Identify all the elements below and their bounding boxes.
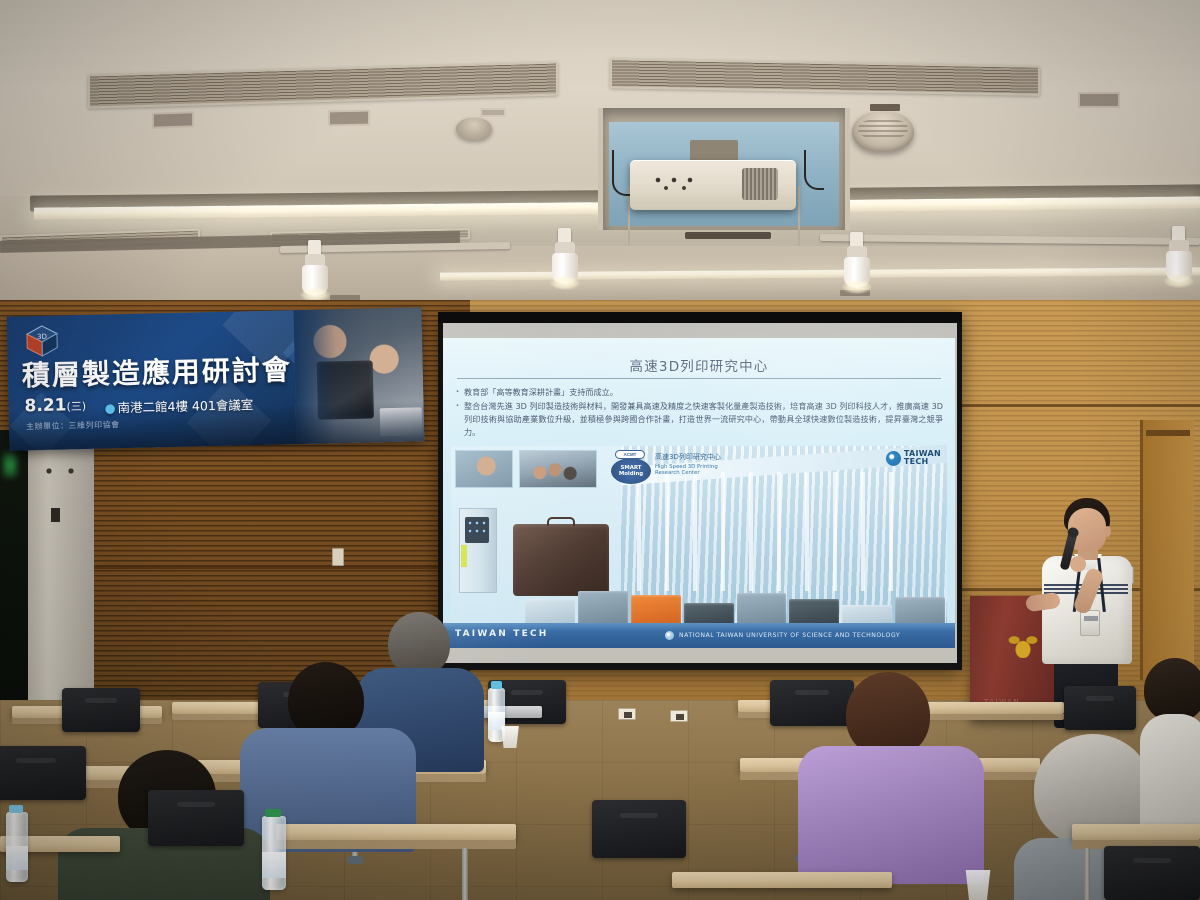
door-handle[interactable]	[1146, 430, 1190, 436]
banner-title: 積層製造應用研討會	[21, 348, 292, 394]
badge-line-2: Molding	[619, 471, 643, 477]
badge-line-1: SMART	[620, 465, 641, 471]
water-bottle[interactable]	[262, 816, 286, 890]
desk-foot	[347, 856, 363, 864]
wall-power-outlet	[670, 710, 688, 722]
lecture-desk	[672, 872, 892, 888]
banner-date: 8.21(三)	[24, 395, 86, 416]
slide-title: 高速3D列印研究中心	[443, 355, 955, 375]
taiwan-tech-mark-icon	[886, 451, 901, 466]
banner-organizer: 主辦單位：三維列印協會	[26, 419, 120, 432]
side-door[interactable]	[1140, 420, 1194, 680]
presentation-slide: 高速3D列印研究中心 教育部「高等教育深耕計畫」支持而成立。 整合台灣先進 3D…	[443, 338, 955, 648]
ceiling-square-vent	[152, 111, 194, 128]
ceiling-square-vent	[328, 110, 370, 127]
lecture-chair[interactable]	[62, 688, 140, 732]
slide-footer: TAIWAN TECH NATIONAL TAIWAN UNIVERSITY O…	[443, 623, 955, 648]
attendee-right-white	[1140, 658, 1200, 828]
location-pin-icon: ●	[104, 400, 115, 415]
ceiling-speaker	[852, 112, 914, 152]
wall-seam	[930, 404, 1200, 407]
wall-power-outlet	[618, 708, 636, 720]
banner-location-text: 南港二館4樓 401會議室	[117, 397, 253, 415]
lecture-chair[interactable]	[592, 800, 686, 858]
attendee-right-purple	[798, 672, 984, 872]
banner-location: ●南港二館4樓 401會議室	[104, 394, 253, 416]
presenter-hand	[1070, 556, 1086, 572]
taiwan-tech-wordmark: TAIWAN TECH	[904, 450, 941, 466]
presenter-ear	[1104, 526, 1111, 537]
event-banner: 3D 積層製造應用研討會 8.21(三) ●南港二館4樓 401會議室 主辦單位…	[7, 307, 425, 450]
projector-ceiling-mount	[690, 140, 738, 162]
smart-molding-badge: SMART Molding	[611, 458, 651, 484]
taiwan-tech-logo: TAIWAN TECH	[886, 450, 941, 466]
lecture-chair[interactable]	[0, 746, 86, 800]
lanyard-id-badge	[1080, 610, 1100, 636]
lecture-desk	[276, 824, 516, 840]
screen-top-casing	[438, 312, 962, 323]
lecture-chair[interactable]	[1104, 846, 1200, 900]
svg-text:3D: 3D	[37, 333, 47, 341]
banner-date-weekday: (三)	[66, 400, 86, 413]
ceiling-mounted-projector	[630, 160, 796, 210]
projector-lens	[742, 168, 778, 200]
taiwan-tech-line-2: TECH	[904, 457, 929, 466]
seminar-room-scene: 3D 積層製造應用研討會 8.21(三) ●南港二館4樓 401會議室 主辦單位…	[0, 0, 1200, 900]
university-seal-icon	[665, 631, 674, 640]
projector-cable	[804, 150, 824, 190]
ceiling-square-vent	[1078, 92, 1120, 108]
research-center-name-en: High Speed 3D Printing Research Center	[655, 464, 733, 476]
slide-photo-collage: ACMT SMART Molding 高速3D列印研究中心 High Speed…	[451, 446, 947, 631]
desk-leg	[1084, 848, 1090, 900]
water-bottle[interactable]	[6, 812, 28, 882]
collage-photo-interview	[455, 450, 513, 488]
wall-column	[28, 440, 94, 730]
wall-power-outlet	[332, 548, 344, 566]
collage-machine-cabinet	[459, 508, 497, 593]
slide-footer-university: NATIONAL TAIWAN UNIVERSITY OF SCIENCE AN…	[679, 632, 900, 639]
research-center-logo: ACMT SMART Molding 高速3D列印研究中心 High Speed…	[603, 450, 733, 484]
wall-dark-recess	[0, 430, 30, 730]
slide-bullet-list: 教育部「高等教育深耕計畫」支持而成立。 整合台灣先進 3D 列印製造技術與材料，…	[455, 386, 943, 440]
ceiling-speaker	[456, 118, 492, 140]
projector-support-rod	[798, 186, 800, 246]
slide-bullet: 整合台灣先進 3D 列印製造技術與材料，開發兼具高速及精度之快速客製化量產製造技…	[455, 400, 943, 439]
projection-screen: 高速3D列印研究中心 教育部「高等教育深耕計畫」支持而成立。 整合台灣先進 3D…	[438, 312, 962, 670]
lecture-chair[interactable]	[1064, 686, 1136, 730]
lecture-chair[interactable]	[148, 790, 244, 846]
ceiling-square-vent	[480, 108, 506, 117]
collage-photo-group	[519, 450, 597, 488]
slide-title-rule	[457, 378, 941, 379]
lecture-desk-edge	[276, 840, 516, 849]
banner-date-number: 8.21	[24, 395, 66, 416]
lecture-desk	[1072, 824, 1200, 840]
slide-bullet: 教育部「高等教育深耕計畫」支持而成立。	[455, 386, 943, 399]
ceiling-slot-vent	[870, 104, 900, 111]
desk-leg	[462, 848, 468, 900]
research-center-name-cn: 高速3D列印研究中心	[655, 452, 721, 462]
